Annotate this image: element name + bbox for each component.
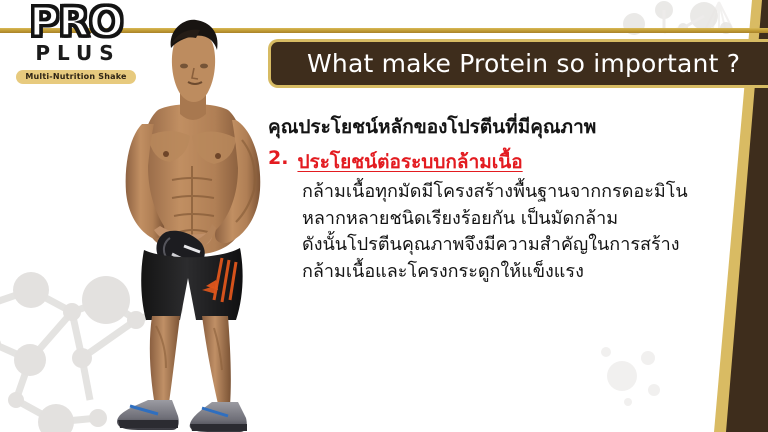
- point-number: 2.: [268, 147, 288, 169]
- title-banner: What make Protein so important ?: [268, 39, 768, 88]
- slide-canvas: PRO PLUS Multi-Nutrition Shake: [0, 0, 768, 432]
- numbered-point: 2. ประโยชน์ต่อระบบกล้ามเนื้อ: [268, 147, 688, 177]
- athlete-photo: [96, 14, 292, 432]
- body-line: กล้ามเนื้อและโครงกระดูกให้แข็งแรง: [302, 259, 688, 286]
- body-line: หลากหลายชนิดเรียงร้อยกัน เป็นมัดกล้าม: [302, 206, 688, 233]
- body-line: ดังนั้นโปรตีนคุณภาพจึงมีความสำคัญในการสร…: [302, 232, 688, 259]
- bubbles-watermark: [592, 332, 682, 412]
- lead-heading: คุณประโยชน์หลักของโปรตีนที่มีคุณภาพ: [268, 114, 688, 141]
- page-title: What make Protein so important ?: [271, 49, 740, 78]
- content-area: คุณประโยชน์หลักของโปรตีนที่มีคุณภาพ 2. ป…: [268, 114, 688, 285]
- point-title: ประโยชน์ต่อระบบกล้ามเนื้อ: [297, 147, 522, 177]
- point-body: กล้ามเนื้อทุกมัดมีโครงสร้างพื้นฐานจากกรด…: [268, 179, 688, 286]
- body-line: กล้ามเนื้อทุกมัดมีโครงสร้างพื้นฐานจากกรด…: [302, 179, 688, 206]
